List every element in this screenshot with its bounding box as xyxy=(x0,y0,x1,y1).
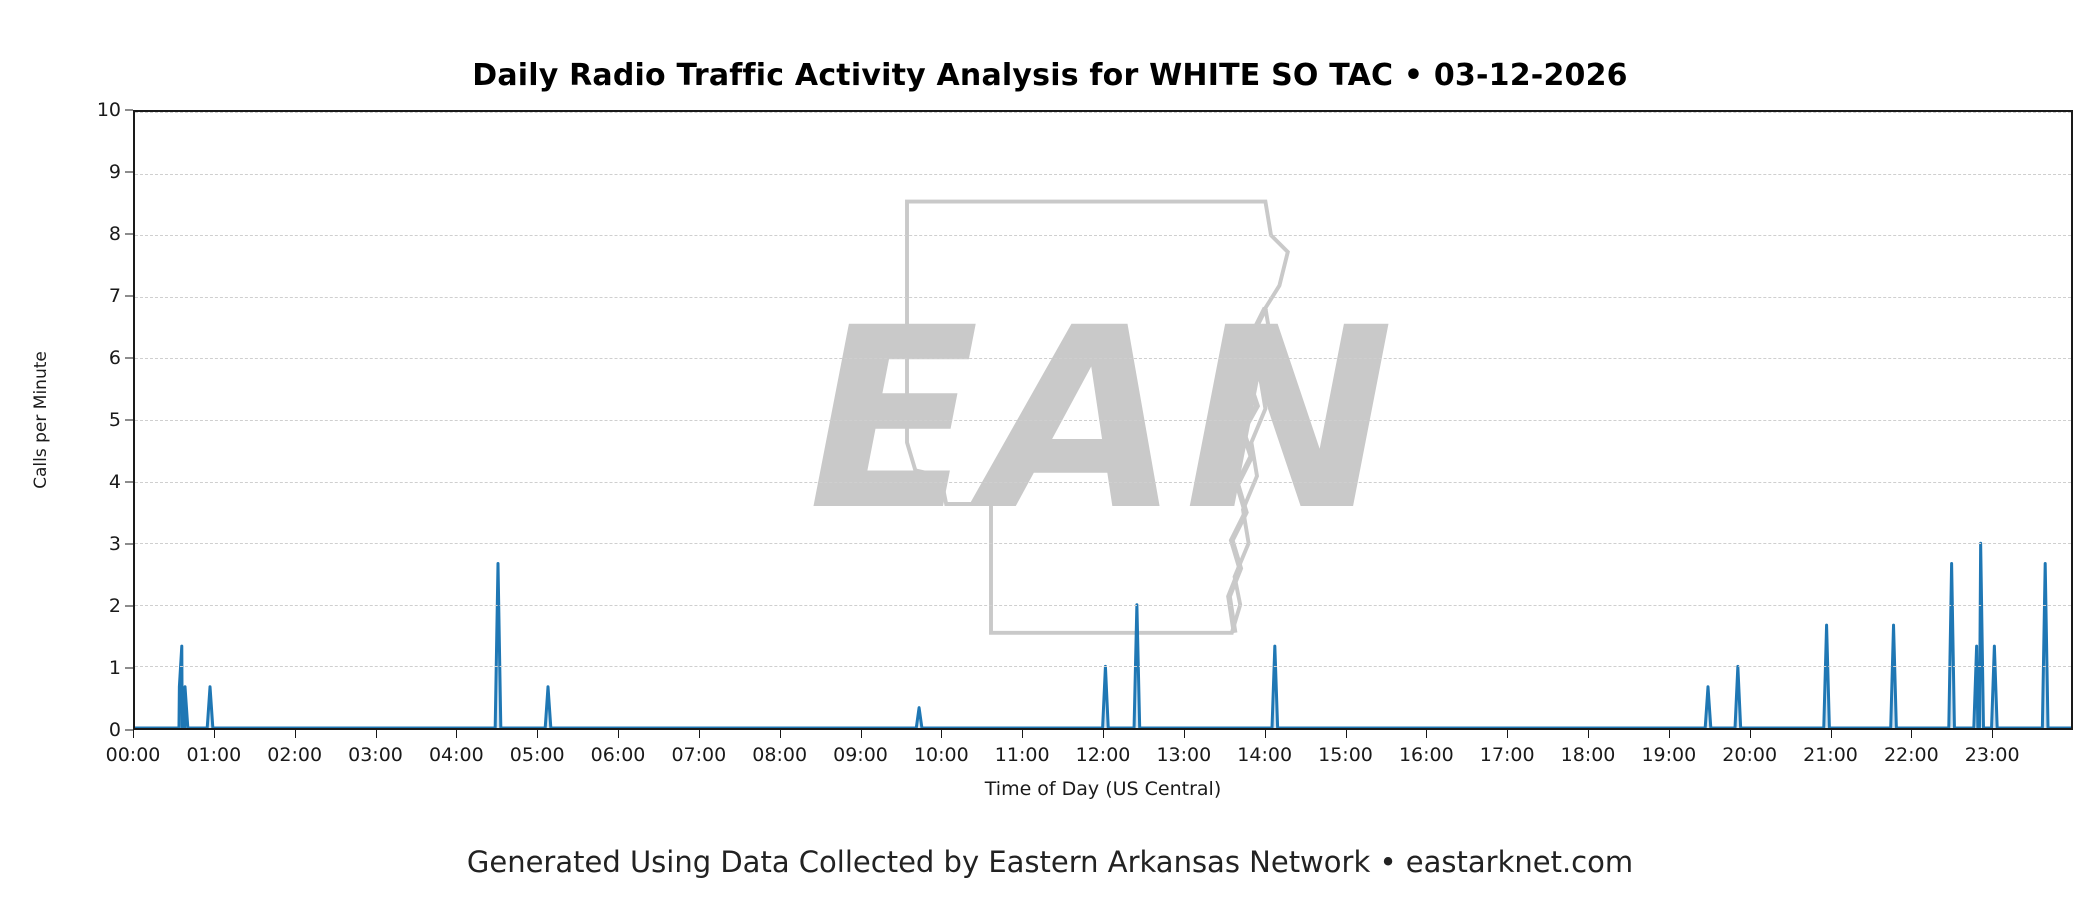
y-tick-mark xyxy=(125,668,133,669)
y-tick-mark xyxy=(125,234,133,235)
x-tick-label: 09:00 xyxy=(833,744,888,766)
x-tick-mark xyxy=(133,730,134,738)
gridline xyxy=(135,112,2071,113)
x-tick-label: 16:00 xyxy=(1399,744,1454,766)
y-tick-label: 7 xyxy=(109,285,121,307)
x-tick-mark xyxy=(1022,730,1023,738)
y-tick-mark xyxy=(125,172,133,173)
x-tick-label: 02:00 xyxy=(267,744,322,766)
x-tick-mark xyxy=(456,730,457,738)
x-tick-mark xyxy=(537,730,538,738)
x-tick-mark xyxy=(1669,730,1670,738)
y-tick-mark xyxy=(125,296,133,297)
y-tick-label: 10 xyxy=(97,99,121,121)
x-tick-label: 20:00 xyxy=(1722,744,1777,766)
x-tick-mark xyxy=(699,730,700,738)
y-tick-label: 8 xyxy=(109,223,121,245)
gridline xyxy=(135,666,2071,667)
x-tick-mark xyxy=(1103,730,1104,738)
x-tick-label: 17:00 xyxy=(1480,744,1535,766)
x-tick-mark xyxy=(1184,730,1185,738)
y-tick-mark xyxy=(125,420,133,421)
x-axis-ticks: 00:0001:0002:0003:0004:0005:0006:0007:00… xyxy=(133,730,2073,776)
gridline xyxy=(135,235,2071,236)
x-tick-label: 22:00 xyxy=(1884,744,1939,766)
gridline xyxy=(135,174,2071,175)
x-tick-mark xyxy=(1426,730,1427,738)
x-tick-mark xyxy=(1750,730,1751,738)
x-tick-label: 04:00 xyxy=(429,744,484,766)
x-tick-mark xyxy=(861,730,862,738)
series-line xyxy=(135,543,2071,728)
y-tick-label: 5 xyxy=(109,409,121,431)
x-tick-mark xyxy=(1588,730,1589,738)
y-axis-ticks: 012345678910 xyxy=(0,110,133,730)
x-tick-mark xyxy=(1507,730,1508,738)
chart-figure: Daily Radio Traffic Activity Analysis fo… xyxy=(0,0,2100,900)
x-tick-label: 01:00 xyxy=(186,744,241,766)
y-tick-label: 1 xyxy=(109,657,121,679)
y-tick-label: 9 xyxy=(109,161,121,183)
x-tick-label: 08:00 xyxy=(752,744,807,766)
x-tick-label: 05:00 xyxy=(510,744,565,766)
x-tick-label: 23:00 xyxy=(1965,744,2020,766)
x-tick-label: 21:00 xyxy=(1803,744,1858,766)
plot-area: EAN xyxy=(133,110,2073,730)
gridline xyxy=(135,543,2071,544)
x-tick-mark xyxy=(780,730,781,738)
x-tick-mark xyxy=(1346,730,1347,738)
x-tick-mark xyxy=(1265,730,1266,738)
footer-credit: Generated Using Data Collected by Easter… xyxy=(0,845,2100,879)
x-tick-mark xyxy=(941,730,942,738)
x-tick-mark xyxy=(376,730,377,738)
x-tick-label: 19:00 xyxy=(1641,744,1696,766)
gridline xyxy=(135,297,2071,298)
y-tick-label: 4 xyxy=(109,471,121,493)
x-tick-label: 07:00 xyxy=(671,744,726,766)
x-tick-label: 12:00 xyxy=(1076,744,1131,766)
x-tick-mark xyxy=(1831,730,1832,738)
y-tick-mark xyxy=(125,730,133,731)
gridline xyxy=(135,605,2071,606)
x-axis-label: Time of Day (US Central) xyxy=(133,778,2073,800)
gridline xyxy=(135,482,2071,483)
y-tick-label: 3 xyxy=(109,533,121,555)
gridline xyxy=(135,420,2071,421)
x-tick-mark xyxy=(1911,730,1912,738)
y-tick-mark xyxy=(125,358,133,359)
x-tick-mark xyxy=(1992,730,1993,738)
x-tick-mark xyxy=(214,730,215,738)
x-tick-mark xyxy=(618,730,619,738)
x-tick-label: 15:00 xyxy=(1318,744,1373,766)
x-tick-label: 18:00 xyxy=(1561,744,1616,766)
x-tick-label: 00:00 xyxy=(106,744,161,766)
y-tick-label: 0 xyxy=(109,719,121,741)
gridline xyxy=(135,358,2071,359)
x-tick-label: 06:00 xyxy=(591,744,646,766)
x-tick-label: 11:00 xyxy=(995,744,1050,766)
y-tick-mark xyxy=(125,544,133,545)
y-tick-mark xyxy=(125,606,133,607)
x-tick-mark xyxy=(295,730,296,738)
page-title: Daily Radio Traffic Activity Analysis fo… xyxy=(0,58,2100,93)
y-tick-label: 6 xyxy=(109,347,121,369)
x-tick-label: 10:00 xyxy=(914,744,969,766)
plot-inner: EAN xyxy=(135,112,2071,728)
y-tick-label: 2 xyxy=(109,595,121,617)
x-tick-label: 03:00 xyxy=(348,744,403,766)
y-tick-mark xyxy=(125,110,133,111)
x-tick-label: 13:00 xyxy=(1156,744,1211,766)
x-tick-label: 14:00 xyxy=(1237,744,1292,766)
y-tick-mark xyxy=(125,482,133,483)
